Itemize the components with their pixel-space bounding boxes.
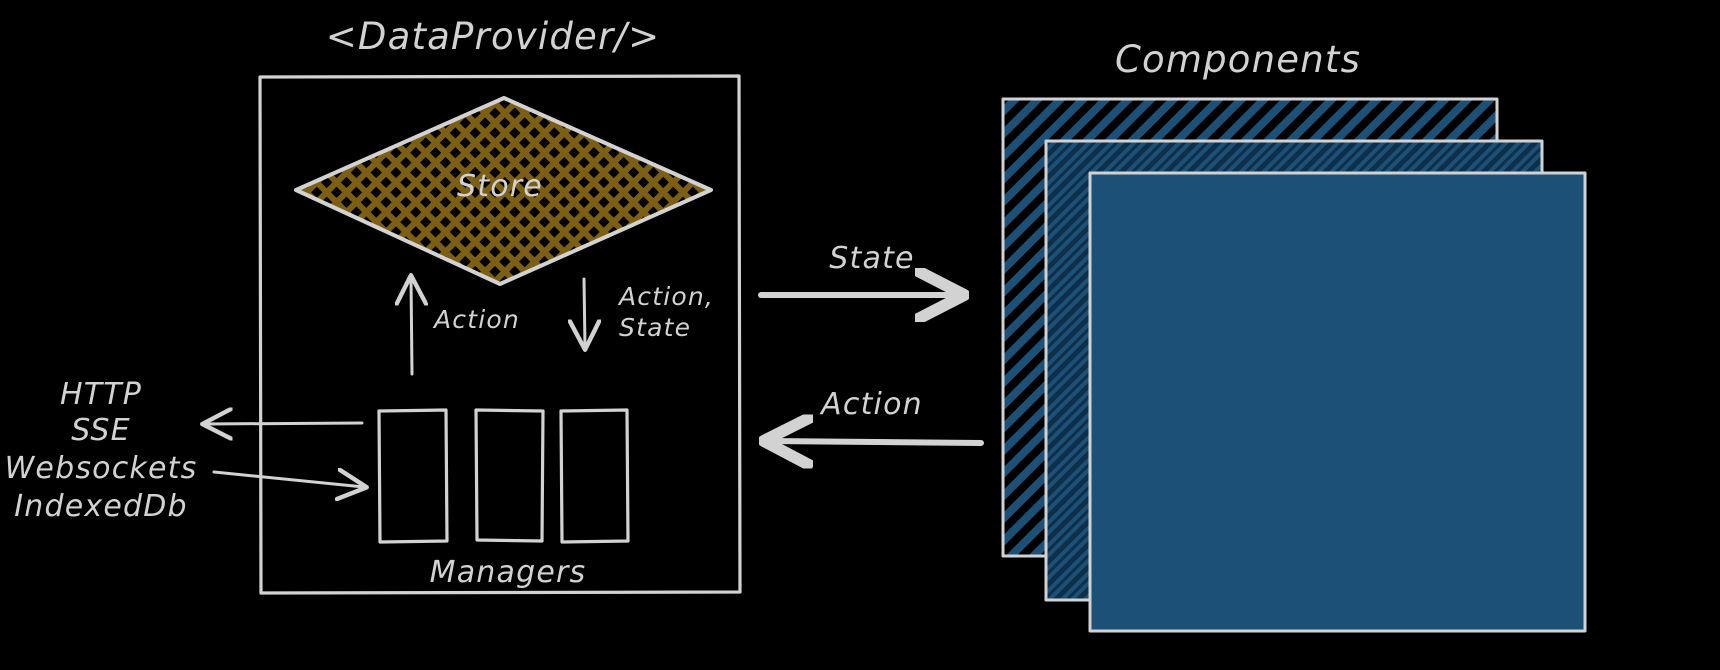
transports-group: HTTP SSE Websockets IndexedDb <box>5 377 364 524</box>
action-up-arrow-line <box>411 278 412 374</box>
action-arrow-line <box>768 441 981 443</box>
transport-label-indexeddb: IndexedDb <box>14 489 188 524</box>
action-state-arrow-label-line1: Action, <box>617 282 714 311</box>
manager-box-2[interactable] <box>476 410 543 541</box>
action-state-down-arrow-line <box>584 279 585 347</box>
store-to-managers-arrow: Action, State <box>584 279 714 347</box>
transport-label-sse: SSE <box>71 413 131 448</box>
components-title: Components <box>1115 38 1361 81</box>
components-group: Components <box>1003 38 1585 631</box>
provider-components-arrows: State Action <box>761 241 981 443</box>
manager-box-1[interactable] <box>379 410 447 542</box>
transport-label-http: HTTP <box>60 377 142 412</box>
outbound-transport-arrow <box>205 423 362 424</box>
inbound-transport-arrow <box>214 472 364 487</box>
managers-label: Managers <box>430 555 587 590</box>
manager-box-3[interactable] <box>561 410 628 542</box>
component-panel-front[interactable] <box>1090 173 1585 631</box>
data-provider-title: <DataProvider/> <box>326 15 661 58</box>
action-up-arrow-label: Action <box>432 305 520 334</box>
managers-group: Managers <box>379 410 628 590</box>
store-label: Store <box>457 169 543 204</box>
store-node[interactable]: Store <box>296 98 711 284</box>
action-arrow-label: Action <box>819 387 923 422</box>
transport-label-websockets: Websockets <box>5 451 198 486</box>
managers-to-store-arrow: Action <box>411 278 520 374</box>
action-state-arrow-label-line2: State <box>619 313 691 342</box>
state-arrow-label: State <box>829 241 914 276</box>
architecture-diagram: <DataProvider/> Store Action Action, Sta… <box>0 0 1720 670</box>
diagram-canvas: <DataProvider/> Store Action Action, Sta… <box>0 0 1720 670</box>
data-provider-group: <DataProvider/> Store Action Action, Sta… <box>260 15 740 593</box>
